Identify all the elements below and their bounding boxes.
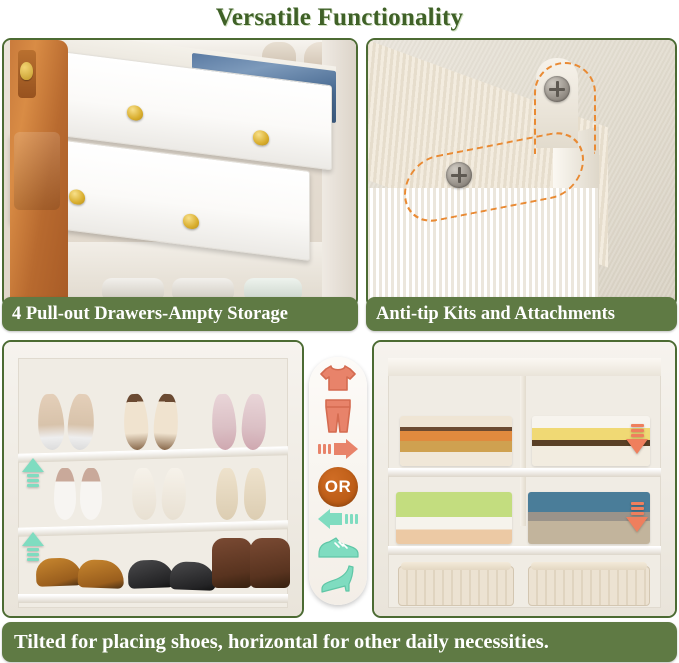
white-block-mule <box>80 468 102 520</box>
or-badge: OR <box>318 467 358 507</box>
slipper-3 <box>244 278 302 298</box>
leather-bag <box>10 40 68 306</box>
slipper-2 <box>172 278 234 298</box>
slipper-1 <box>102 278 164 298</box>
beige-strappy-sandal <box>244 468 266 520</box>
caption-footer-text: Tilted for placing shoes, horizontal for… <box>14 631 549 654</box>
brown-chelsea-boot <box>250 538 290 588</box>
drawers-photo-panel <box>2 38 358 308</box>
drawer-knob-upper-right[interactable] <box>253 129 269 146</box>
pants-icon <box>321 398 355 439</box>
page-title: Versatile Functionality <box>216 4 463 32</box>
shoes-photo-panel <box>2 340 304 618</box>
comparison-icon-strip: OR <box>309 357 367 605</box>
arrow-left-icon <box>316 509 360 534</box>
woven-storage-basket <box>398 566 514 606</box>
cabinet-top-rail <box>388 358 661 376</box>
beige-orange-tan-folded-stack <box>400 416 512 466</box>
title-bar: Versatile Functionality <box>0 0 679 36</box>
tshirt-icon <box>318 363 358 398</box>
shelf-divider <box>520 376 526 526</box>
arrow-down-icon <box>626 500 648 532</box>
shoe-shelf-board-3 <box>18 594 288 603</box>
caption-drawers-text: 4 Pull-out Drawers-Ampty Storage <box>12 304 288 325</box>
green-white-peach-folded-stack <box>396 492 512 544</box>
high-heel-icon <box>318 565 358 600</box>
drawer-knob-lower-right[interactable] <box>183 213 199 230</box>
clothes-photo-panel <box>372 340 677 618</box>
drawer-knob-lower-left[interactable] <box>69 189 85 206</box>
caption-footer: Tilted for placing shoes, horizontal for… <box>2 622 677 662</box>
sneaker-icon <box>316 534 360 565</box>
woven-storage-basket <box>528 566 650 606</box>
caption-drawers: 4 Pull-out Drawers-Ampty Storage <box>2 297 358 331</box>
arrow-right-icon <box>316 439 360 464</box>
clothes-shelf-board-1 <box>388 468 661 477</box>
antitip-photo-panel <box>366 38 677 308</box>
white-block-mule <box>54 468 76 520</box>
beige-strappy-sandal <box>216 468 238 520</box>
brown-chelsea-boot <box>212 538 252 588</box>
arrow-down-icon <box>626 422 648 454</box>
caption-antitip: Anti-tip Kits and Attachments <box>366 297 677 331</box>
drawer-knob-upper-left[interactable] <box>127 104 143 121</box>
clothes-shelf-board-2 <box>388 546 661 555</box>
bag-clasp <box>20 62 33 80</box>
arrow-up-icon <box>22 458 44 487</box>
arrow-up-icon <box>22 532 44 561</box>
caption-antitip-text: Anti-tip Kits and Attachments <box>376 304 615 325</box>
